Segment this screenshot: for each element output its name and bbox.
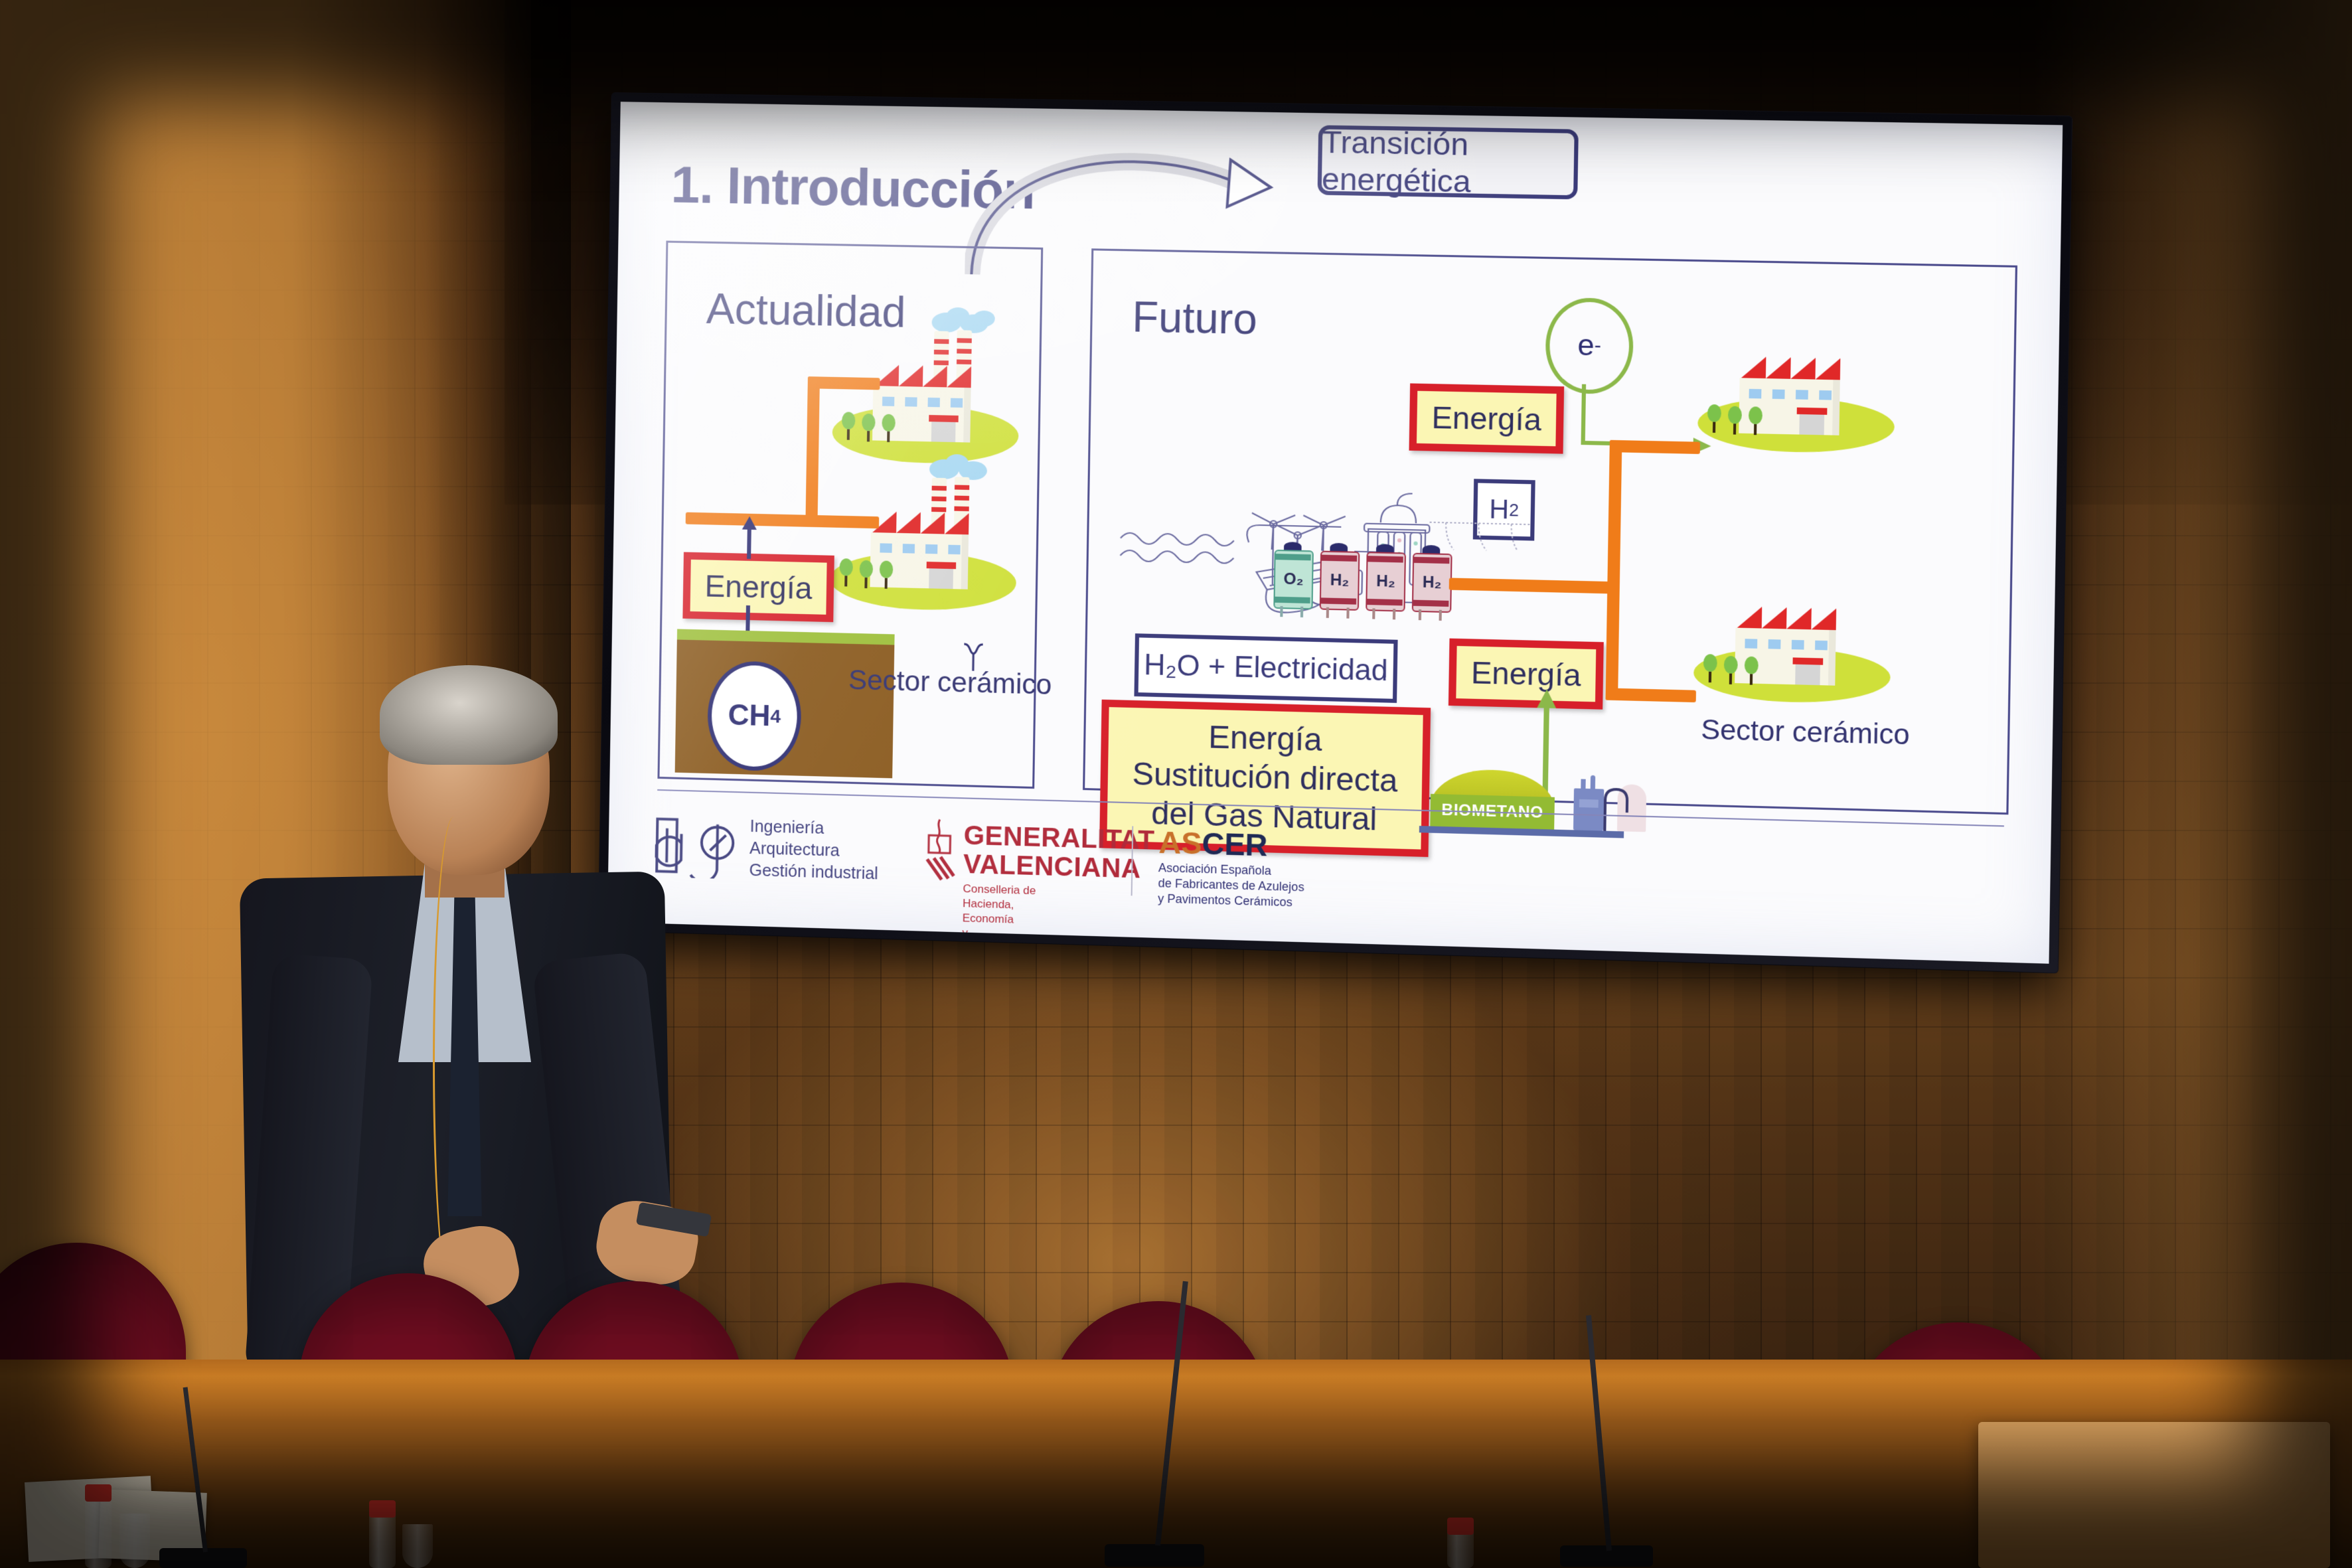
ascer-logo: ASCER Asociación Española de Fabricantes… (1158, 826, 1305, 911)
ch4-subscript: 4 (770, 706, 781, 727)
generalitat-line-2: VALENCIANA (963, 850, 1154, 884)
factory-icon-now-bottom (824, 451, 1028, 616)
iag-line-2: Arquitectura (749, 838, 879, 863)
h2-pipe-vertical (1607, 440, 1622, 594)
ascer-sub-3: y Pavimentos Cerámicos (1158, 891, 1304, 910)
electron-label: e (1577, 329, 1595, 362)
presentation-display[interactable]: 1. Introducción Transición energética Ac… (599, 93, 2072, 973)
generalitat-sub-1: Conselleria de Hacienda, Economía (963, 882, 1038, 928)
transition-badge: Transición energética (1318, 125, 1579, 199)
iag-logo-icon (655, 813, 741, 880)
laptop[interactable] (1978, 1422, 2330, 1568)
right-wall-light (2033, 0, 2352, 1568)
gas-pipe-now-bottom (805, 515, 879, 529)
pointer-bracket-icon (960, 641, 987, 672)
ch4-label: CH (728, 699, 771, 734)
smoke-cloud-icon (973, 311, 995, 327)
display-screen: 1. Introducción Transición energética Ac… (607, 102, 2063, 964)
ascer-part-1: AS (1158, 825, 1202, 861)
sector-ceramico-label-futuro: Sector cerámico (1701, 714, 1910, 751)
drinking-glass (402, 1524, 433, 1568)
bottle-cap (1447, 1518, 1474, 1535)
slide-canvas: 1. Introducción Transición energética Ac… (607, 102, 2063, 964)
bottle-cap (85, 1484, 112, 1502)
ascer-wordmark: ASCER (1158, 826, 1305, 864)
callout-line-2: Sustitución directa (1132, 755, 1398, 801)
gas-pipe-now-vertical (805, 376, 820, 527)
ascer-part-2: CER (1202, 826, 1268, 862)
display-bezel: 1. Introducción Transición energética Ac… (599, 93, 2072, 973)
energy-arrow-up-icon (733, 514, 765, 559)
energy-box-futuro-mid: Energía (1449, 639, 1604, 710)
energy-box-futuro-top-label: Energía (1431, 399, 1541, 437)
callout-line-1: Energía (1208, 718, 1322, 760)
panel-futuro-label: Futuro (1132, 292, 1257, 344)
factory-icon-futuro-bottom (1687, 572, 1896, 712)
energy-box-futuro-top: Energía (1409, 383, 1565, 453)
factory-icon-futuro-top (1691, 321, 1900, 461)
water-bottle (369, 1511, 396, 1568)
energy-box-actualidad-label: Energía (704, 568, 813, 606)
sector-ceramico-label-now: Sector cerámico (848, 664, 1052, 701)
pipe-down-to-bottom (1605, 582, 1619, 700)
biomethane-arrow-icon (1534, 688, 1559, 711)
drinking-glass (119, 1514, 150, 1568)
energy-box-actualidad: Energía (682, 552, 834, 623)
inputs-box: H₂O + Electricidad (1134, 633, 1397, 703)
energy-box-futuro-mid-label: Energía (1471, 655, 1581, 694)
transition-badge-label: Transición energética (1322, 123, 1575, 202)
pipe-to-factory-bottom (1605, 688, 1695, 702)
generalitat-shield-icon (921, 818, 957, 883)
iag-logo-text: Ingeniería Arquitectura Gestión industri… (749, 816, 879, 886)
iag-line-1: Ingeniería (749, 816, 879, 841)
inputs-box-label: H₂O + Electricidad (1144, 649, 1389, 688)
water-bottle (85, 1495, 112, 1568)
ascer-subtitle: Asociación Española de Fabricantes de Az… (1158, 860, 1304, 911)
iag-line-3: Gestión industrial (749, 860, 878, 886)
electron-superscript: - (1594, 335, 1601, 358)
bottle-cap (369, 1500, 396, 1518)
photograph-scene: 1. Introducción Transición energética Ac… (0, 0, 2352, 1568)
presenter-hair (380, 665, 558, 765)
pipe-to-factory-top (1610, 440, 1700, 454)
generalitat-title: GENERALITAT VALENCIANA (963, 822, 1155, 885)
